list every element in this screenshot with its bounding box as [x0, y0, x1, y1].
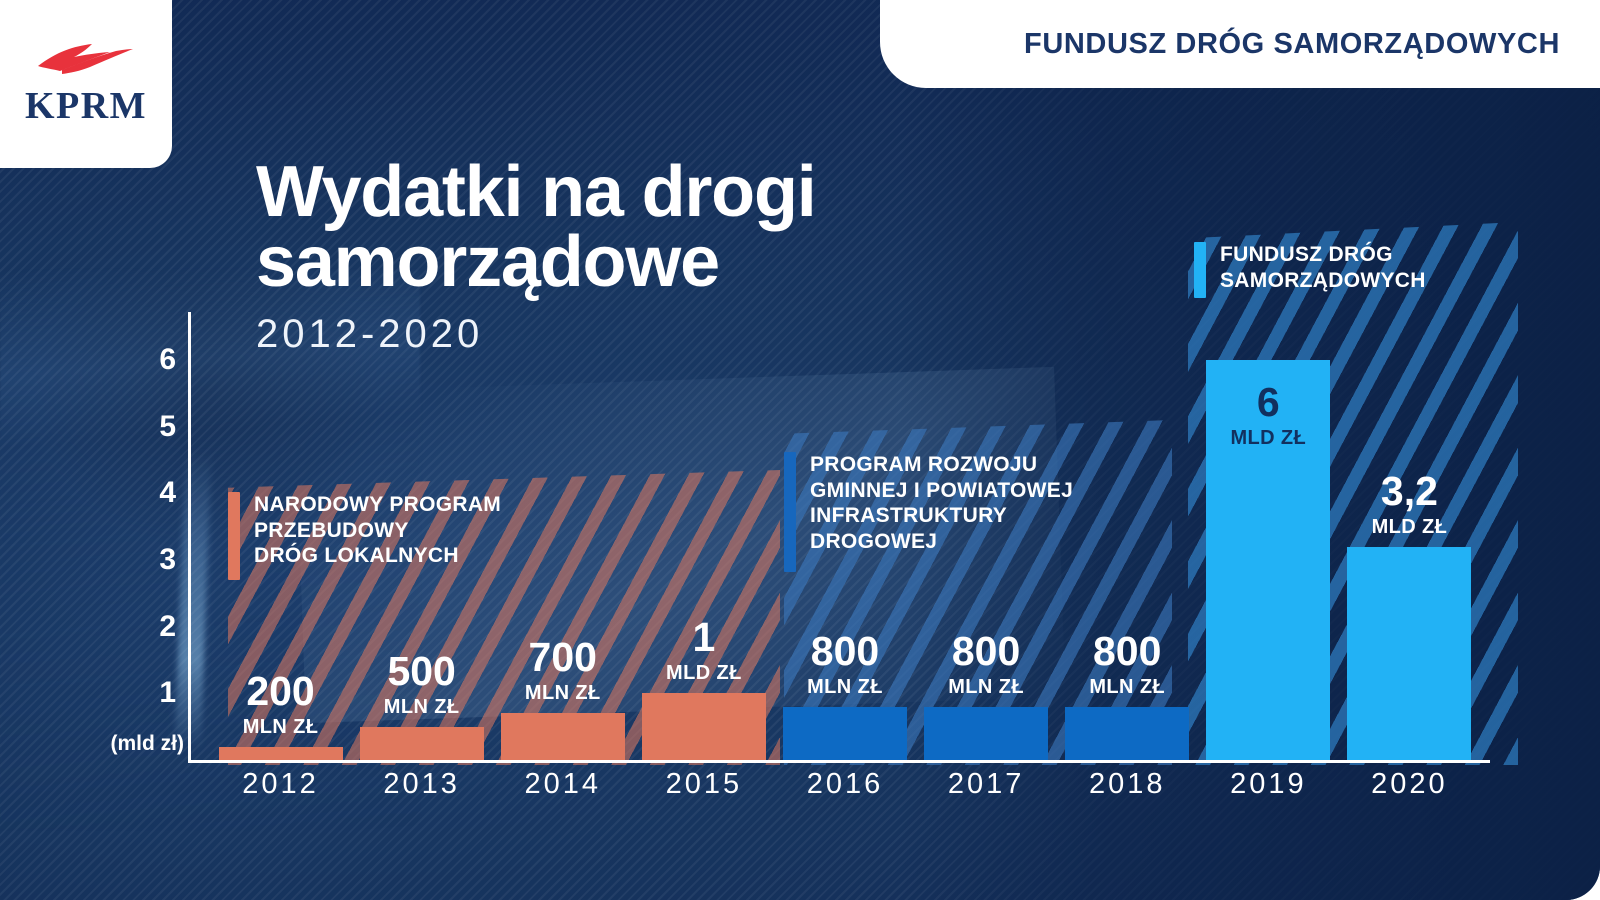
bar-value-2015: 1 [666, 617, 742, 658]
x-axis-labels: 201220132014201520162017201820192020 [210, 768, 1480, 816]
x-axis-label-2014: 2014 [492, 768, 633, 816]
bar-2016[interactable]: 800MLN ZŁ [783, 707, 907, 760]
legend-program-rozwoju: PROGRAM ROZWOJU GMINNEJ I POWIATOWEJ INF… [784, 452, 1073, 572]
y-axis-tick-3: 3 [159, 543, 176, 577]
bar-label-2018: 800MLN ZŁ [1089, 631, 1165, 697]
y-axis-tick-4: 4 [159, 476, 176, 510]
y-axis-unit-label: (mld zł) [111, 732, 185, 756]
bar-label-2019: 6MLD ZŁ [1230, 382, 1306, 448]
bar-label-2020: 3,2MLD ZŁ [1372, 471, 1448, 537]
x-axis-label-2019: 2019 [1198, 768, 1339, 816]
kprm-logo-text: KPRM [25, 84, 147, 128]
bar-label-2012: 200MLN ZŁ [243, 671, 319, 737]
legend-marker-icon [228, 492, 240, 580]
y-axis-tick-1: 1 [159, 676, 176, 710]
x-axis-line [188, 760, 1490, 763]
bar-value-2020: 3,2 [1372, 471, 1448, 512]
y-axis-line [188, 312, 191, 760]
bar-column-2015: 1MLD ZŁ [633, 312, 774, 760]
x-axis-label-2015: 2015 [633, 768, 774, 816]
legend-label: FUNDUSZ DRÓG SAMORZĄDOWYCH [1220, 242, 1426, 298]
bar-value-2013: 500 [384, 651, 460, 692]
bar-unit-2014: MLN ZŁ [525, 683, 601, 703]
x-axis-label-2013: 2013 [351, 768, 492, 816]
bar-2013[interactable]: 500MLN ZŁ [360, 727, 484, 760]
bar-column-2020: 3,2MLD ZŁ [1339, 312, 1480, 760]
bar-unit-2018: MLN ZŁ [1089, 677, 1165, 697]
legend-marker-icon [784, 452, 796, 572]
x-axis-label-2016: 2016 [774, 768, 915, 816]
bar-label-2013: 500MLN ZŁ [384, 651, 460, 717]
bar-unit-2017: MLN ZŁ [948, 677, 1024, 697]
title-block: Wydatki na drogi samorządowe 2012-2020 [256, 158, 816, 357]
bar-unit-2020: MLD ZŁ [1372, 517, 1448, 537]
polish-flag-icon [34, 40, 138, 80]
infographic-poster: KPRM FUNDUSZ DRÓG SAMORZĄDOWYCH Wydatki … [0, 0, 1600, 900]
page-subtitle: 2012-2020 [256, 312, 816, 357]
kprm-logo: KPRM [0, 0, 172, 168]
legend-label: PROGRAM ROZWOJU GMINNEJ I POWIATOWEJ INF… [810, 452, 1073, 572]
bar-column-2019: 6MLD ZŁ [1198, 312, 1339, 760]
y-axis-tick-5: 5 [159, 410, 176, 444]
bar-value-2014: 700 [525, 637, 601, 678]
bar-label-2014: 700MLN ZŁ [525, 637, 601, 703]
bar-unit-2016: MLN ZŁ [807, 677, 883, 697]
header-title: FUNDUSZ DRÓG SAMORZĄDOWYCH [1024, 28, 1560, 61]
bar-value-2016: 800 [807, 631, 883, 672]
bar-2014[interactable]: 700MLN ZŁ [501, 713, 625, 760]
header-banner: FUNDUSZ DRÓG SAMORZĄDOWYCH [880, 0, 1600, 88]
x-axis-label-2012: 2012 [210, 768, 351, 816]
x-axis-label-2018: 2018 [1057, 768, 1198, 816]
x-axis-label-2017: 2017 [916, 768, 1057, 816]
y-axis-tick-6: 6 [159, 343, 176, 377]
bar-value-2018: 800 [1089, 631, 1165, 672]
bar-value-2017: 800 [948, 631, 1024, 672]
bar-2015[interactable]: 1MLD ZŁ [642, 693, 766, 760]
bar-label-2015: 1MLD ZŁ [666, 617, 742, 683]
page-title-line1: Wydatki na drogi [256, 158, 816, 228]
legend-label: NARODOWY PROGRAM PRZEBUDOWY DRÓG LOKALNY… [254, 492, 501, 580]
bar-2019[interactable]: 6MLD ZŁ [1206, 360, 1330, 760]
bar-column-2014: 700MLN ZŁ [492, 312, 633, 760]
page-title-line2: samorządowe [256, 228, 816, 298]
bar-2018[interactable]: 800MLN ZŁ [1065, 707, 1189, 760]
bar-label-2016: 800MLN ZŁ [807, 631, 883, 697]
bar-unit-2019: MLD ZŁ [1230, 428, 1306, 448]
y-axis-tick-2: 2 [159, 610, 176, 644]
legend-fundusz-drog: FUNDUSZ DRÓG SAMORZĄDOWYCH [1194, 242, 1426, 298]
legend-narodowy-program: NARODOWY PROGRAM PRZEBUDOWY DRÓG LOKALNY… [228, 492, 501, 580]
bar-unit-2013: MLN ZŁ [384, 697, 460, 717]
bar-2017[interactable]: 800MLN ZŁ [924, 707, 1048, 760]
bar-label-2017: 800MLN ZŁ [948, 631, 1024, 697]
bar-value-2019: 6 [1230, 382, 1306, 423]
legend-marker-icon [1194, 242, 1206, 298]
bar-value-2012: 200 [243, 671, 319, 712]
bar-column-2018: 800MLN ZŁ [1057, 312, 1198, 760]
bar-unit-2012: MLN ZŁ [243, 717, 319, 737]
bar-unit-2015: MLD ZŁ [666, 663, 742, 683]
bar-2012[interactable]: 200MLN ZŁ [219, 747, 343, 760]
x-axis-label-2020: 2020 [1339, 768, 1480, 816]
bar-2020[interactable]: 3,2MLD ZŁ [1347, 547, 1471, 760]
